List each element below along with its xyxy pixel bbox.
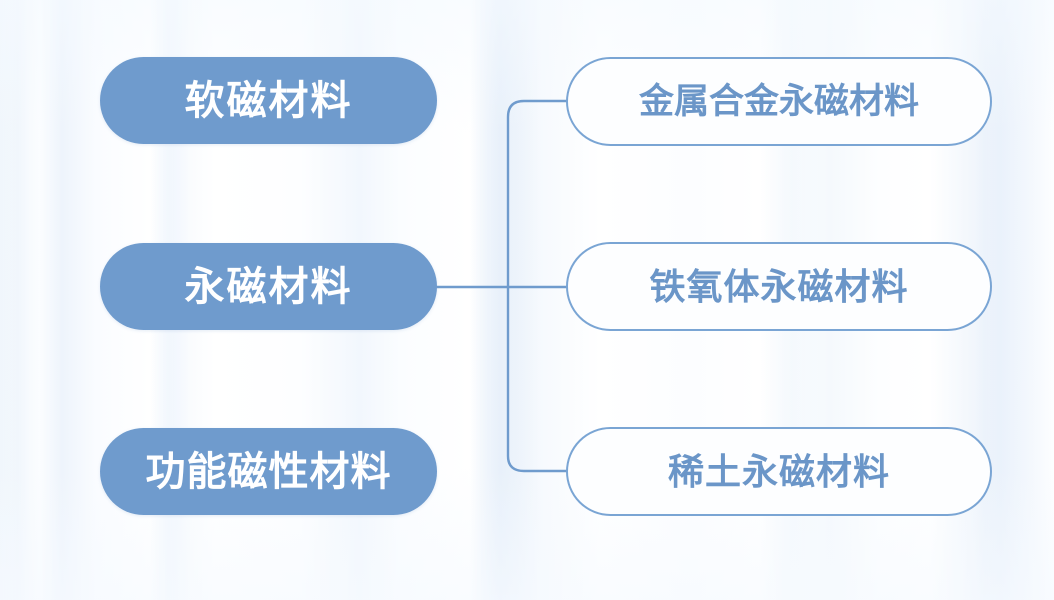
node-ferrite-permanent[interactable]: 铁氧体永磁材料 <box>566 242 992 331</box>
node-permanent-magnetic[interactable]: 永磁材料 <box>100 243 437 330</box>
diagram-canvas: 软磁材料 永磁材料 功能磁性材料 金属合金永磁材料 铁氧体永磁材料 稀土永磁材料 <box>0 0 1054 600</box>
node-functional-magnetic[interactable]: 功能磁性材料 <box>100 428 437 515</box>
node-rare-earth-permanent-label: 稀土永磁材料 <box>668 454 890 490</box>
edge-to-rare-earth <box>508 287 566 471</box>
node-soft-magnetic-label: 软磁材料 <box>185 81 353 121</box>
node-metal-alloy-permanent[interactable]: 金属合金永磁材料 <box>566 57 992 146</box>
node-permanent-magnetic-label: 永磁材料 <box>185 267 353 307</box>
edge-to-metal-alloy <box>508 101 566 287</box>
node-functional-magnetic-label: 功能磁性材料 <box>146 452 392 492</box>
node-rare-earth-permanent[interactable]: 稀土永磁材料 <box>566 427 992 516</box>
node-soft-magnetic[interactable]: 软磁材料 <box>100 57 437 144</box>
node-ferrite-permanent-label: 铁氧体永磁材料 <box>649 269 908 305</box>
node-metal-alloy-permanent-label: 金属合金永磁材料 <box>639 84 919 119</box>
